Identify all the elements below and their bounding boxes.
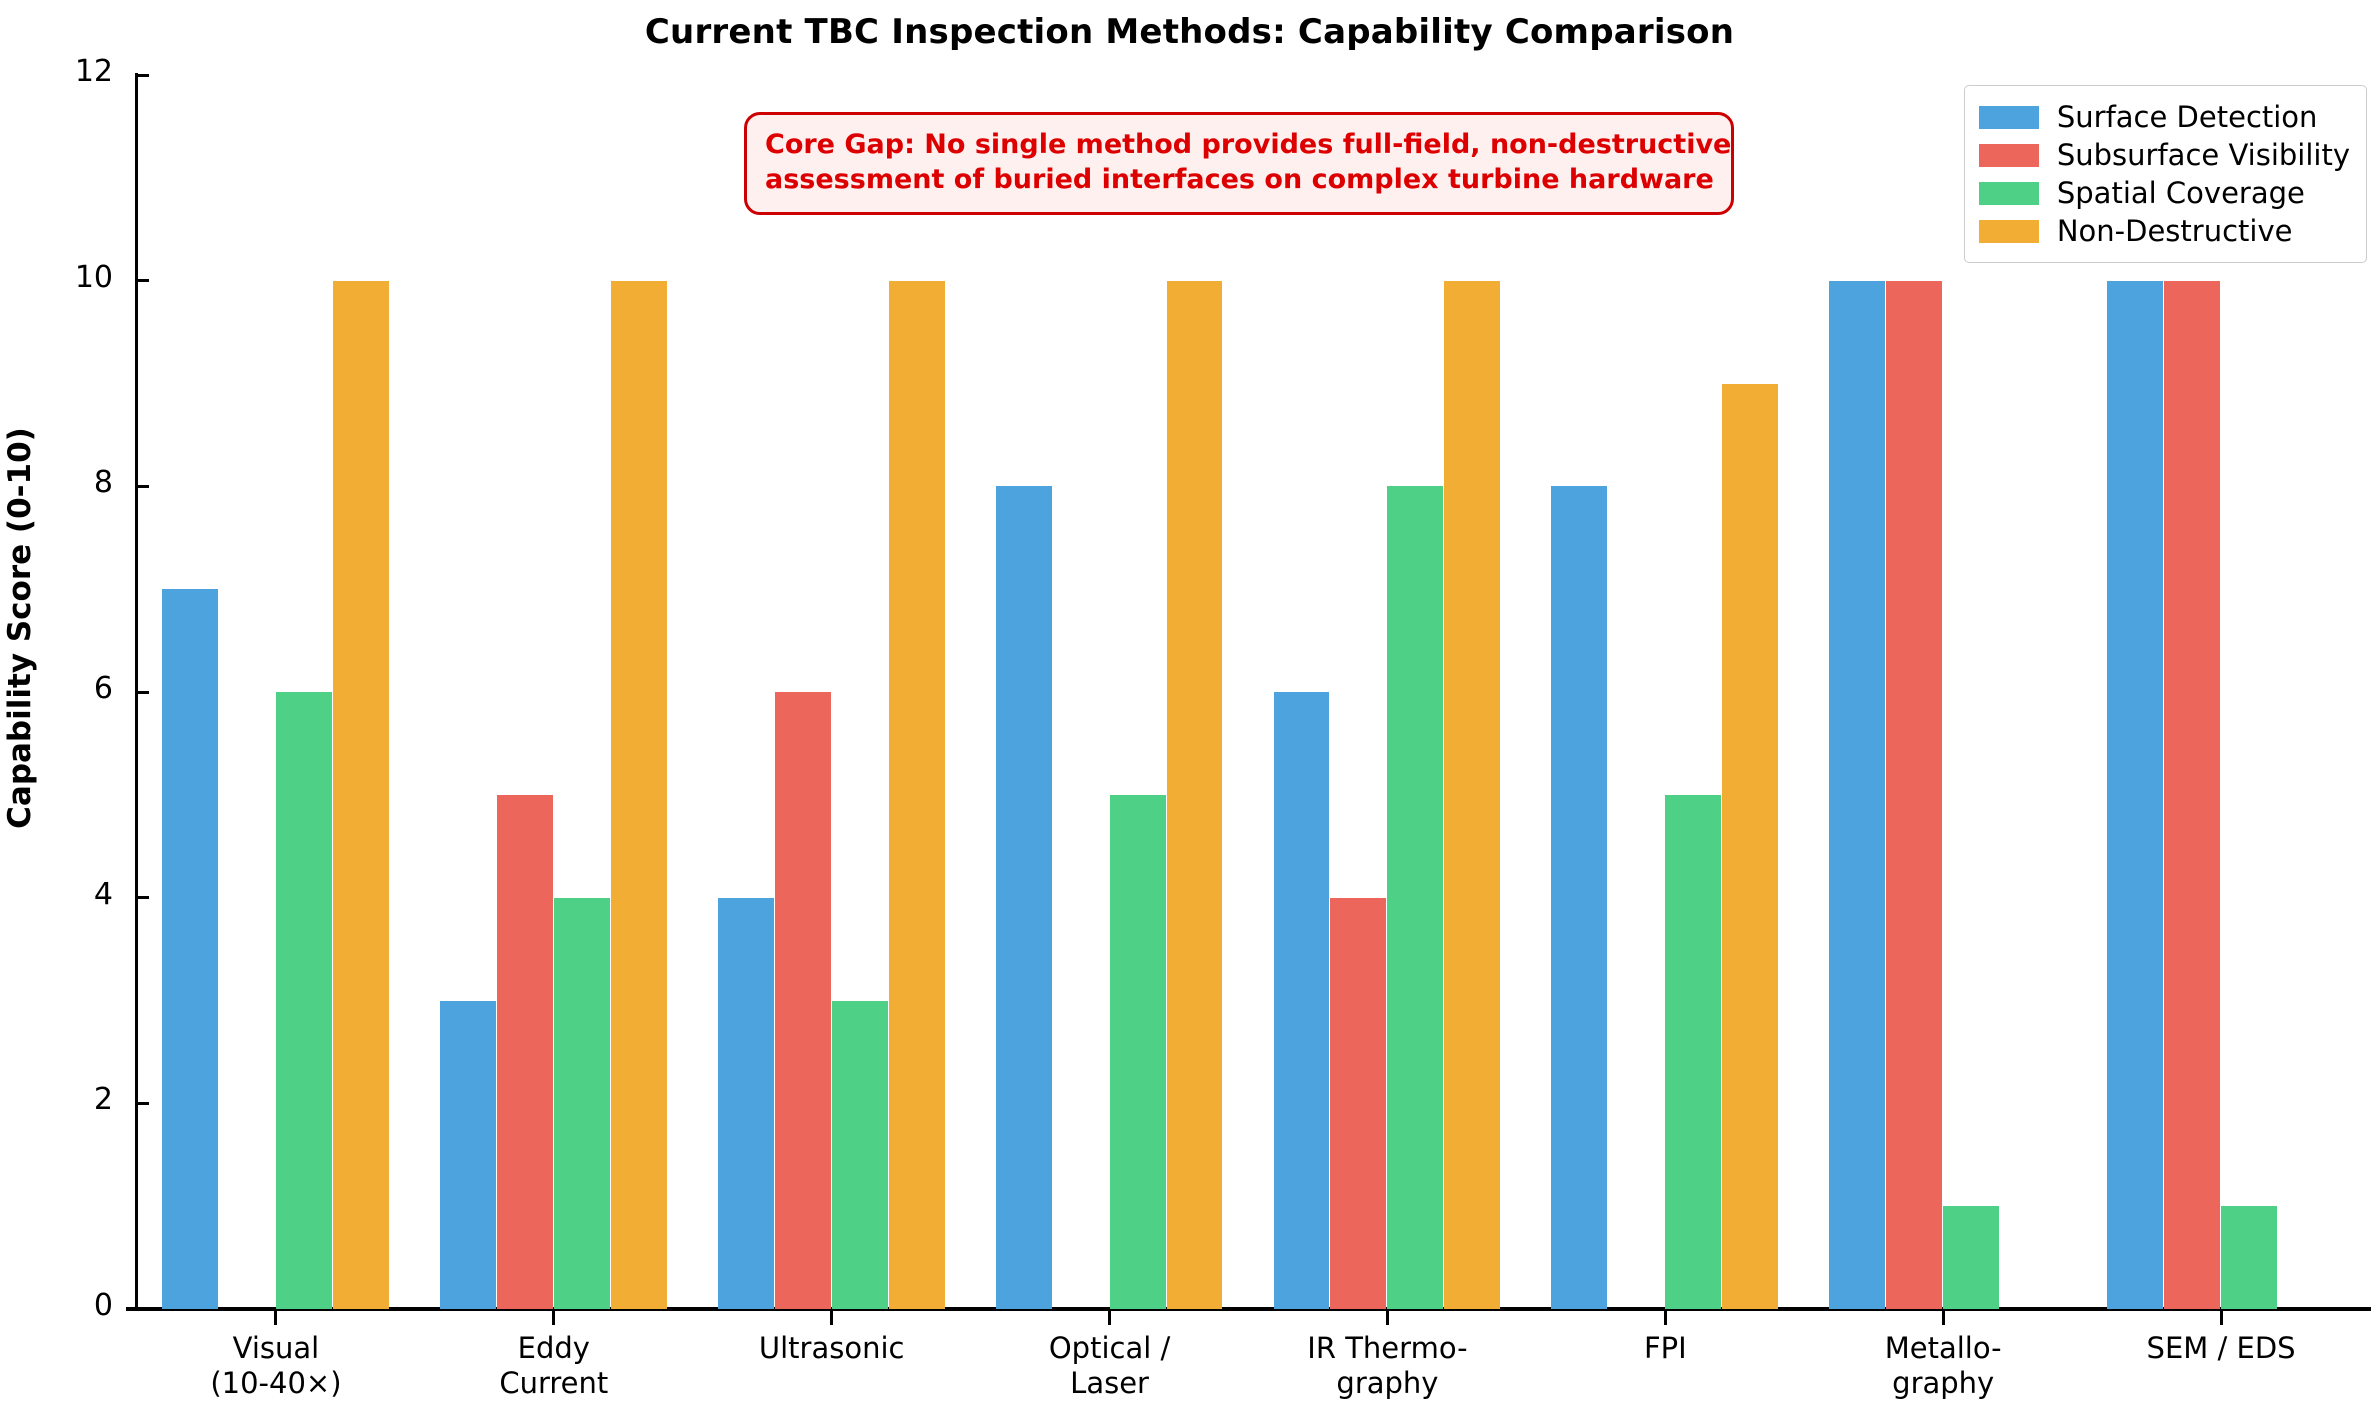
figure-canvas: Current TBC Inspection Methods: Capabili… xyxy=(0,0,2379,1380)
legend-label: Surface Detection xyxy=(2057,100,2318,134)
bar[interactable] xyxy=(2164,281,2220,1309)
x-tick-mark xyxy=(830,1311,833,1325)
annotation-line: Core Gap: No single method provides full… xyxy=(765,128,1713,163)
bar-group xyxy=(440,75,668,1309)
y-tick-label: 10 xyxy=(75,260,113,295)
x-tick-mark xyxy=(1664,1311,1667,1325)
core-gap-annotation: Core Gap: No single method provides full… xyxy=(744,112,1734,215)
y-tick-label: 4 xyxy=(94,877,113,912)
bar-group xyxy=(718,75,946,1309)
x-tick-mark xyxy=(552,1311,555,1325)
bar-group xyxy=(1274,75,1502,1309)
bar[interactable] xyxy=(1167,281,1223,1309)
legend-item[interactable]: Spatial Coverage xyxy=(1979,174,2350,212)
bar[interactable] xyxy=(1110,795,1166,1309)
y-tick-label: 8 xyxy=(94,465,113,500)
legend-label: Spatial Coverage xyxy=(2057,176,2305,210)
y-tick-label: 6 xyxy=(94,671,113,706)
bar[interactable] xyxy=(996,486,1052,1309)
bar[interactable] xyxy=(333,281,389,1309)
legend-swatch xyxy=(1979,106,2039,129)
legend-label: Non-Destructive xyxy=(2057,214,2293,248)
y-tick-label: 0 xyxy=(94,1288,113,1323)
bar[interactable] xyxy=(611,281,667,1309)
legend-swatch xyxy=(1979,144,2039,167)
bar[interactable] xyxy=(889,281,945,1309)
bar[interactable] xyxy=(1444,281,1500,1309)
legend-item[interactable]: Surface Detection xyxy=(1979,98,2350,136)
bar[interactable] xyxy=(1665,795,1721,1309)
x-tick-label-line: Current xyxy=(389,1366,719,1401)
bar-group xyxy=(1551,75,1779,1309)
bar[interactable] xyxy=(162,589,218,1309)
bar[interactable] xyxy=(2221,1206,2277,1309)
x-tick-mark xyxy=(1386,1311,1389,1325)
bar[interactable] xyxy=(1943,1206,1999,1309)
bar[interactable] xyxy=(554,898,610,1309)
legend-item[interactable]: Non-Destructive xyxy=(1979,212,2350,250)
bar[interactable] xyxy=(440,1001,496,1310)
x-tick-mark xyxy=(2220,1311,2223,1325)
bar[interactable] xyxy=(1551,486,1607,1309)
bar[interactable] xyxy=(1886,281,1942,1309)
x-tick-mark xyxy=(274,1311,277,1325)
page-title: Current TBC Inspection Methods: Capabili… xyxy=(0,12,2379,52)
bar[interactable] xyxy=(832,1001,888,1310)
legend-swatch xyxy=(1979,220,2039,243)
x-tick-label-line: graphy xyxy=(1222,1366,1552,1401)
bar-group xyxy=(162,75,390,1309)
bar[interactable] xyxy=(1722,384,1778,1310)
bar[interactable] xyxy=(1829,281,1885,1309)
bar[interactable] xyxy=(775,692,831,1309)
y-axis-label: Capability Score (0-10) xyxy=(2,298,38,958)
y-tick-label: 2 xyxy=(94,1082,113,1117)
x-tick-mark xyxy=(1108,1311,1111,1325)
legend-label: Subsurface Visibility xyxy=(2057,138,2350,172)
bar[interactable] xyxy=(276,692,332,1309)
x-tick-label-line: SEM / EDS xyxy=(2056,1331,2379,1366)
x-tick-label-line: graphy xyxy=(1778,1366,2108,1401)
annotation-line: assessment of buried interfaces on compl… xyxy=(765,163,1713,198)
legend[interactable]: Surface DetectionSubsurface VisibilitySp… xyxy=(1964,85,2367,263)
bar-group xyxy=(996,75,1224,1309)
bar[interactable] xyxy=(1274,692,1330,1309)
legend-swatch xyxy=(1979,182,2039,205)
x-tick-mark xyxy=(1942,1311,1945,1325)
legend-item[interactable]: Subsurface Visibility xyxy=(1979,136,2350,174)
y-tick-label: 12 xyxy=(75,54,113,89)
bar[interactable] xyxy=(1387,486,1443,1309)
bar[interactable] xyxy=(497,795,553,1309)
bar[interactable] xyxy=(2107,281,2163,1309)
bar[interactable] xyxy=(718,898,774,1309)
x-tick-label: SEM / EDS xyxy=(2056,1331,2379,1366)
bar[interactable] xyxy=(1330,898,1386,1309)
